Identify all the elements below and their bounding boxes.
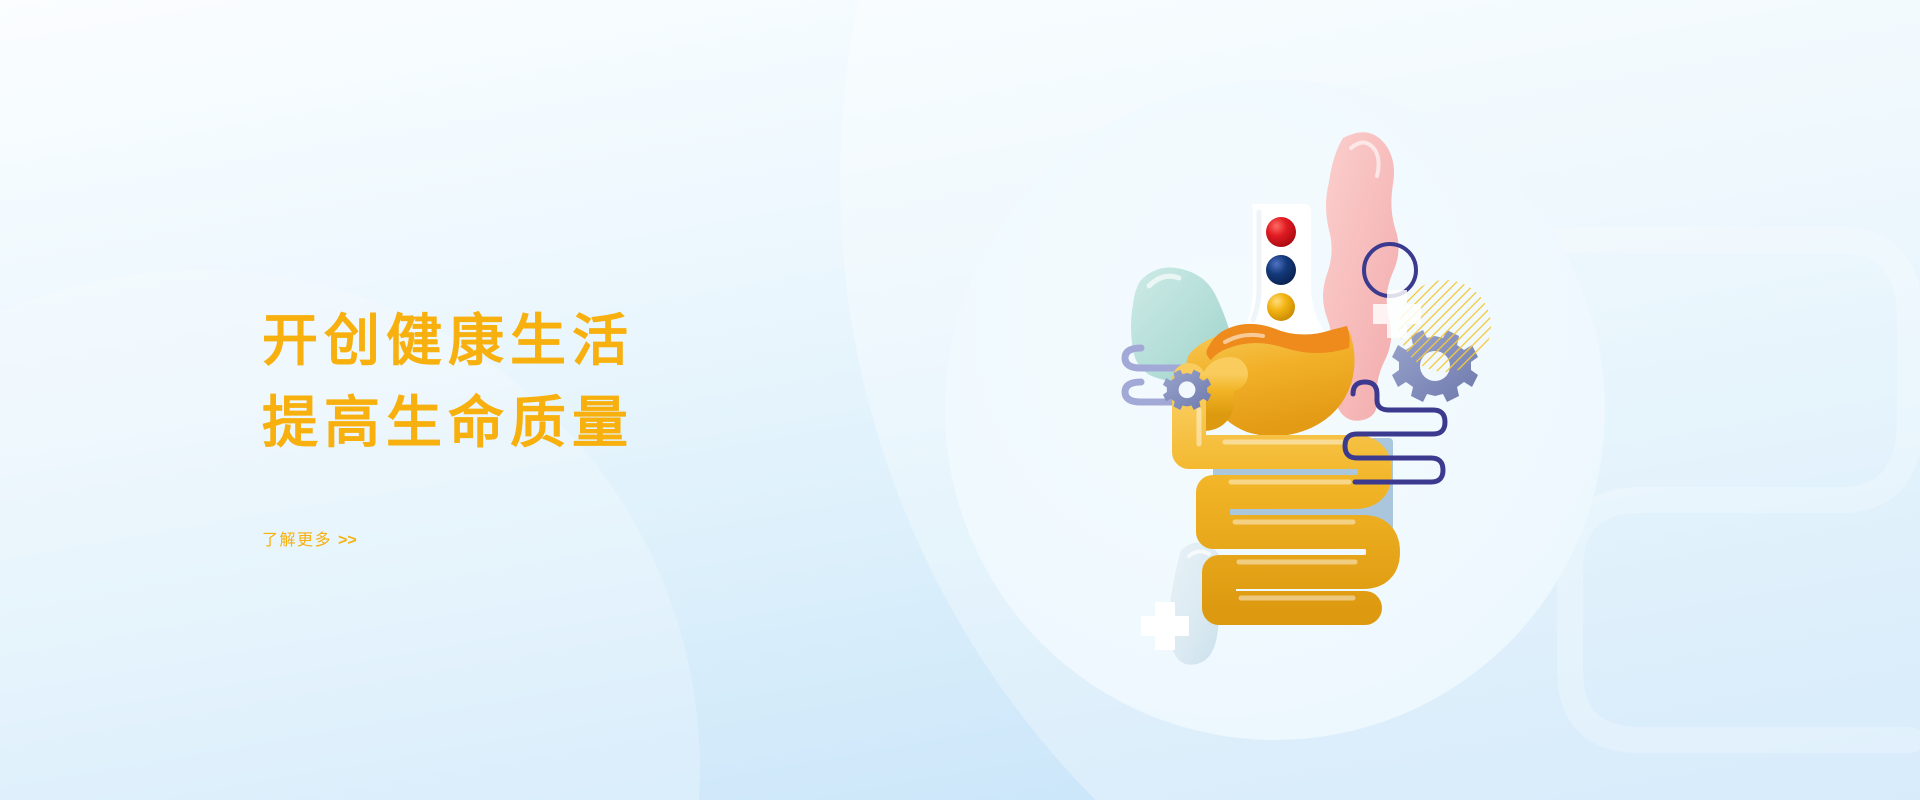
learn-more-link[interactable]: 了解更多>> <box>262 526 357 550</box>
digestive-system-illustration <box>945 80 1605 740</box>
pill-yellow <box>1267 293 1295 321</box>
pill-navy <box>1266 255 1296 285</box>
pill-red <box>1266 217 1296 247</box>
learn-more-label: 了解更多 <box>262 532 332 549</box>
headline-line-1: 开创健康生活 <box>262 300 882 382</box>
hatched-circle-icon <box>1399 280 1491 372</box>
chevron-right-icon: >> <box>338 532 357 549</box>
hero-banner: 开创健康生活 提高生命质量 了解更多>> <box>0 0 1920 800</box>
hero-copy: 开创健康生活 提高生命质量 了解更多>> <box>262 300 882 550</box>
headline-line-2: 提高生命质量 <box>262 382 882 464</box>
